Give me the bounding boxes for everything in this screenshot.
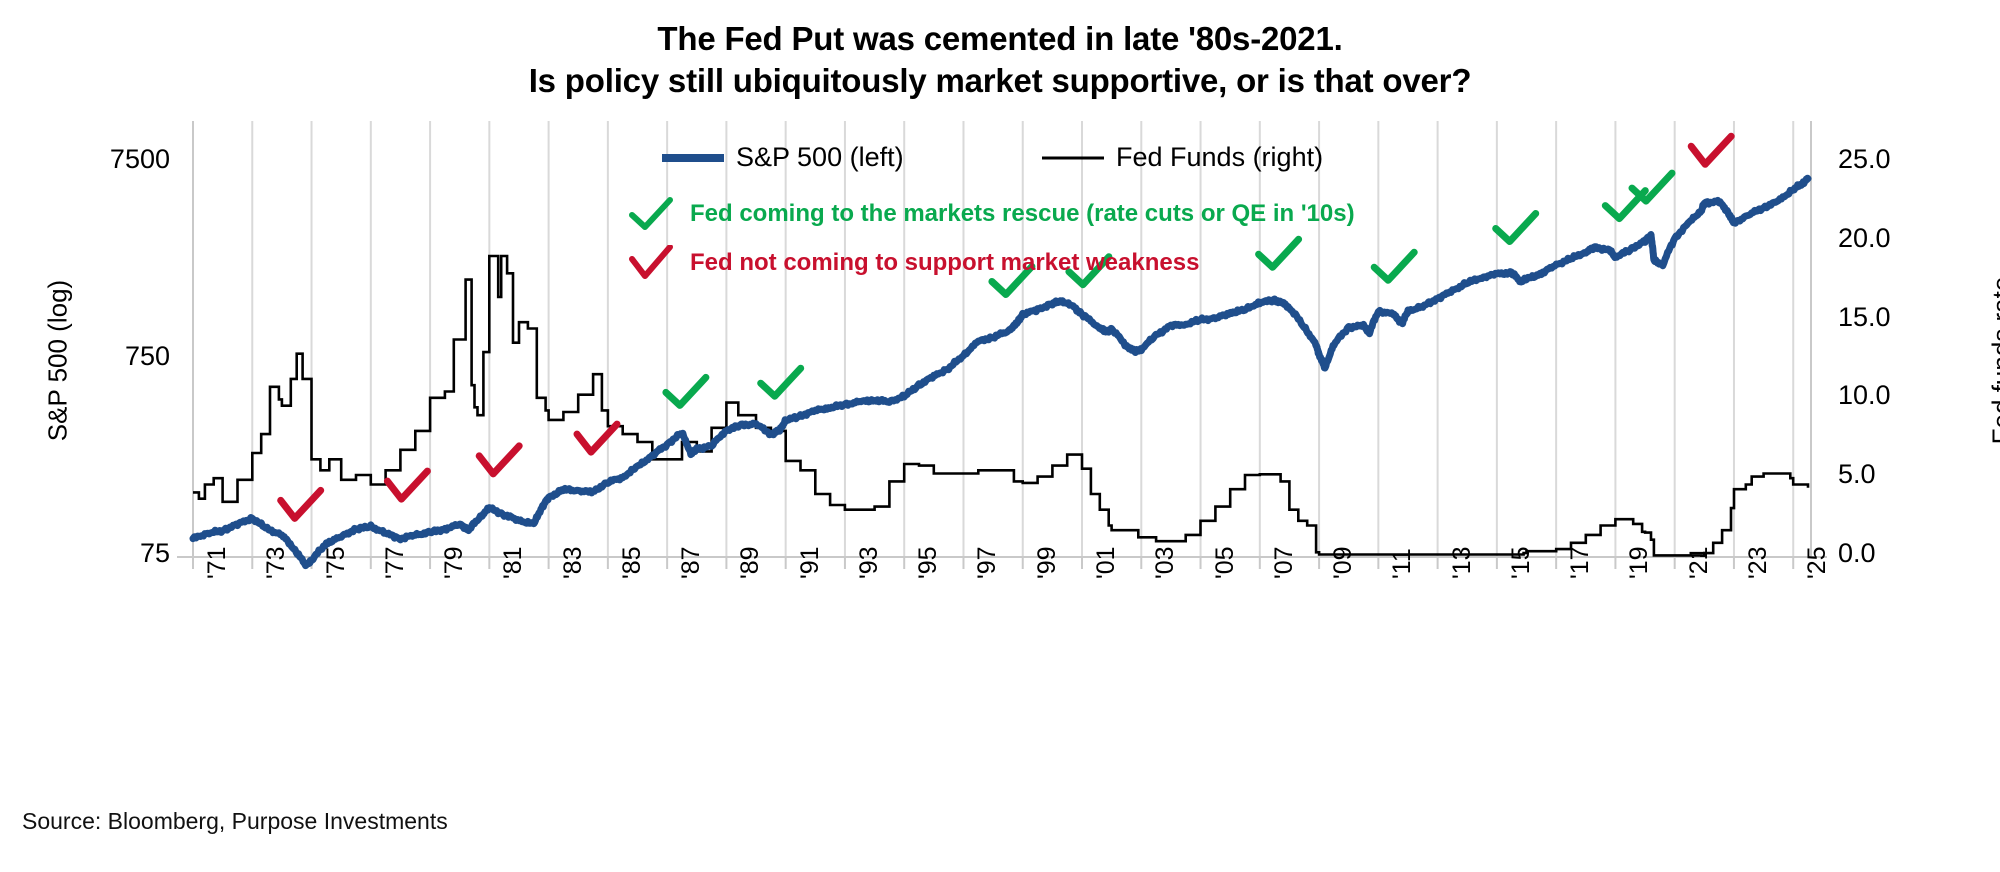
y-tick-right-10.0: 10.0 — [1838, 380, 1891, 411]
annotation-red: Fed not coming to support market weaknes… — [628, 245, 1199, 281]
x-tick-03: '03 — [1151, 546, 1180, 579]
x-tick-99: '99 — [1033, 546, 1062, 579]
x-tick-71: '71 — [203, 546, 232, 579]
chart-canvas — [0, 0, 2000, 872]
marker-red-0 — [281, 490, 321, 518]
x-tick-13: '13 — [1448, 546, 1477, 579]
y-tick-left-750: 750 — [40, 341, 170, 372]
x-tick-87: '87 — [677, 546, 706, 579]
y-axis-right-label: Fed funds rate — [1987, 211, 2000, 511]
marker-green-5 — [1374, 252, 1414, 280]
marker-red-3 — [577, 424, 617, 452]
x-tick-75: '75 — [322, 546, 351, 579]
x-tick-01: '01 — [1092, 546, 1121, 579]
marker-green-4 — [1259, 239, 1299, 267]
legend-swatch-fedfunds-icon — [1040, 151, 1106, 165]
marker-green-0 — [666, 377, 706, 405]
x-tick-77: '77 — [381, 546, 410, 579]
y-tick-right-20.0: 20.0 — [1838, 223, 1891, 254]
marker-red-2 — [479, 446, 519, 474]
x-tick-09: '09 — [1329, 546, 1358, 579]
annotation-green: Fed coming to the markets rescue (rate c… — [628, 196, 1355, 232]
series-fed-funds — [193, 256, 1808, 556]
x-tick-93: '93 — [855, 546, 884, 579]
x-tick-07: '07 — [1270, 546, 1299, 579]
y-tick-right-5.0: 5.0 — [1838, 459, 1876, 490]
x-tick-25: '25 — [1803, 546, 1832, 579]
x-tick-89: '89 — [736, 546, 765, 579]
x-tick-79: '79 — [440, 546, 469, 579]
series-sp500 — [193, 178, 1808, 565]
check-green-icon — [628, 196, 674, 232]
annotation-green-text: Fed coming to the markets rescue (rate c… — [690, 200, 1355, 228]
legend-item-fedfunds[interactable]: Fed Funds (right) — [1040, 142, 1323, 173]
x-tick-97: '97 — [973, 546, 1002, 579]
y-tick-right-15.0: 15.0 — [1838, 302, 1891, 333]
x-tick-05: '05 — [1211, 546, 1240, 579]
x-tick-95: '95 — [914, 546, 943, 579]
marker-green-6 — [1496, 214, 1536, 242]
x-tick-91: '91 — [796, 546, 825, 579]
x-tick-85: '85 — [618, 546, 647, 579]
marker-green-1 — [761, 368, 801, 396]
x-tick-15: '15 — [1507, 546, 1536, 579]
x-tick-81: '81 — [499, 546, 528, 579]
x-tick-11: '11 — [1388, 548, 1417, 579]
legend-item-sp500[interactable]: S&P 500 (left) — [660, 142, 904, 173]
annotation-red-text: Fed not coming to support market weaknes… — [690, 249, 1199, 277]
x-tick-21: '21 — [1685, 546, 1714, 579]
y-tick-left-75: 75 — [40, 538, 170, 569]
x-tick-83: '83 — [559, 546, 588, 579]
x-tick-73: '73 — [262, 546, 291, 579]
check-red-icon — [628, 245, 674, 281]
legend-label-fedfunds: Fed Funds (right) — [1116, 142, 1323, 173]
x-tick-19: '19 — [1625, 546, 1654, 579]
marker-red-1 — [387, 471, 427, 499]
x-tick-23: '23 — [1744, 546, 1773, 579]
chart-legend: S&P 500 (left) Fed Funds (right) — [0, 140, 2000, 180]
source-note: Source: Bloomberg, Purpose Investments — [22, 808, 448, 835]
x-tick-17: '17 — [1566, 546, 1595, 579]
legend-swatch-sp500-icon — [660, 151, 726, 165]
y-tick-right-0.0: 0.0 — [1838, 538, 1876, 569]
legend-label-sp500: S&P 500 (left) — [736, 142, 904, 173]
chart-root: The Fed Put was cemented in late '80s-20… — [0, 0, 2000, 872]
